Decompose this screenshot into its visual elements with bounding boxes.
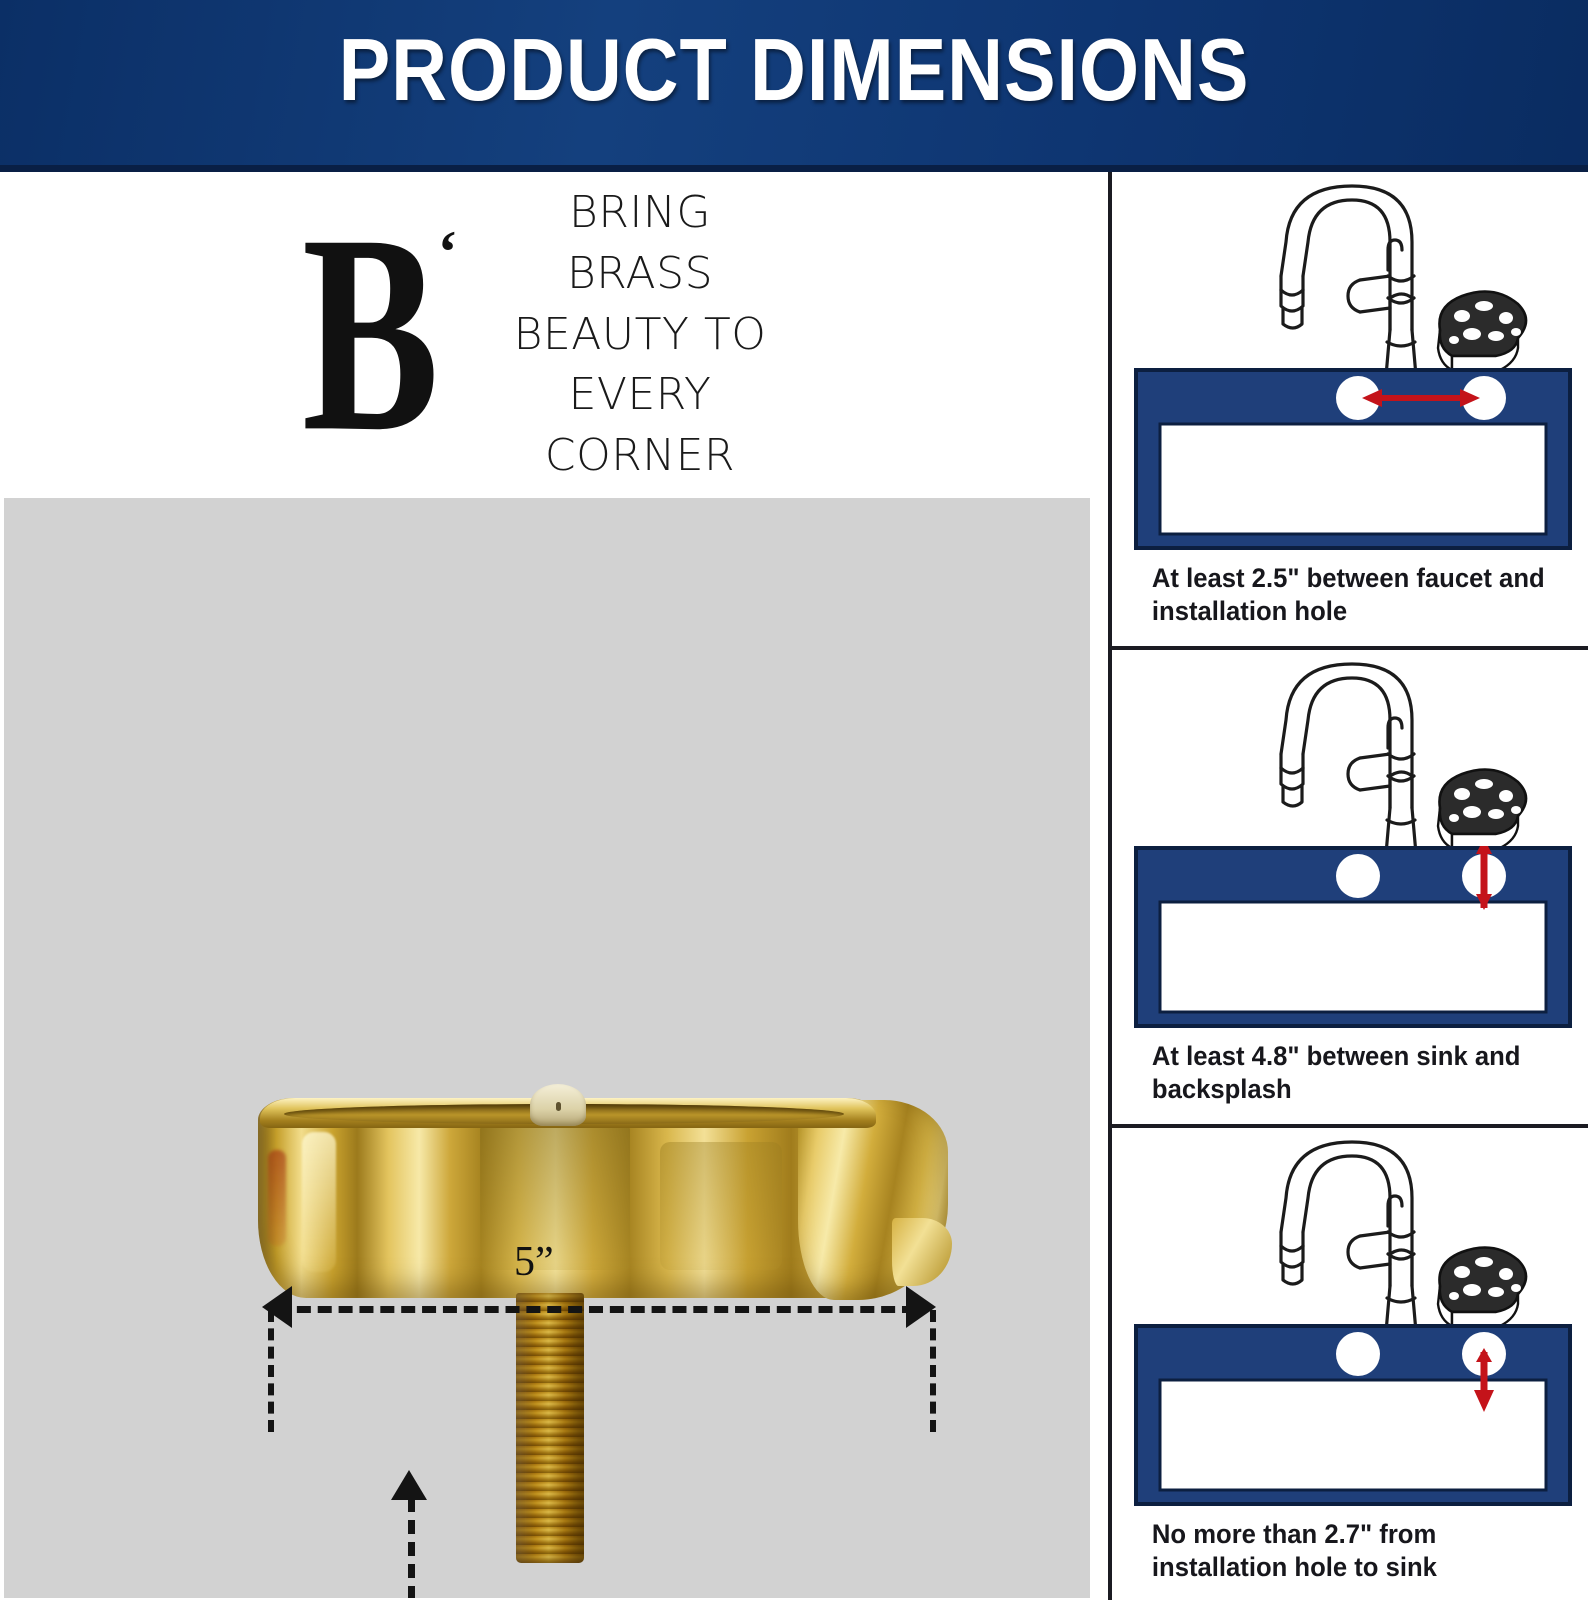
brand-lockup: B ‘ BRING BRASS BEAUTY TO EVERY CORNER xyxy=(302,183,767,487)
soap-dispenser-icon xyxy=(1418,1238,1538,1338)
installation-guide-column: At least 2.5" between faucet and install… xyxy=(1112,172,1588,1600)
soap-dispenser-icon xyxy=(1418,760,1538,860)
arrow-left-icon xyxy=(262,1286,292,1328)
bowl-center-nozzle xyxy=(530,1084,586,1126)
install-diagram xyxy=(1112,172,1588,552)
header-banner: PRODUCT DIMENSIONS xyxy=(0,0,1588,172)
install-panel-backsplash-spacing: At least 4.8" between sink and backsplas… xyxy=(1112,650,1588,1124)
brand-logo: B ‘ xyxy=(302,210,462,460)
brand-logo-apostrophe: ‘ xyxy=(438,222,458,282)
brand-tagline-line-4: EVERY xyxy=(514,365,767,426)
extension-line-right xyxy=(930,1310,936,1432)
install-diagram xyxy=(1112,1128,1588,1508)
page-title: PRODUCT DIMENSIONS xyxy=(95,24,1492,116)
threaded-shank xyxy=(516,1293,584,1563)
brand-tagline-line-2: BRASS xyxy=(514,244,767,305)
install-panel-faucet-spacing: At least 2.5" between faucet and install… xyxy=(1112,172,1588,646)
brand-block: B ‘ BRING BRASS BEAUTY TO EVERY CORNER xyxy=(0,172,1104,498)
extension-line-left xyxy=(268,1310,274,1432)
brand-tagline-line-1: BRING xyxy=(514,183,767,244)
bowl-reflection xyxy=(660,1142,782,1270)
bowl-spout-tip xyxy=(892,1218,952,1286)
install-caption: At least 2.5" between faucet and install… xyxy=(1112,552,1564,646)
install-panel-hole-to-sink: No more than 2.7" from installation hole… xyxy=(1112,1128,1588,1600)
dimension-line-width xyxy=(276,1306,916,1313)
install-hole-left xyxy=(1336,1332,1380,1376)
dimension-label-width: 5” xyxy=(514,1238,554,1286)
install-hole-left xyxy=(1336,854,1380,898)
install-caption: At least 4.8" between sink and backsplas… xyxy=(1112,1030,1564,1124)
product-photo: 5” 1 1/8” 2 3/8” xyxy=(4,498,1090,1598)
brand-tagline-line-3: BEAUTY TO xyxy=(514,305,767,366)
brand-logo-letter: B xyxy=(302,206,439,461)
bowl-color-reflection xyxy=(268,1150,286,1246)
brass-bowl-body xyxy=(258,1098,948,1303)
dimension-line-bowl-height xyxy=(408,1498,415,1598)
soap-dispenser-icon xyxy=(1418,282,1538,382)
install-diagram xyxy=(1112,650,1588,1030)
product-dimensions-infographic: PRODUCT DIMENSIONS B ‘ BRING BRASS BEAUT… xyxy=(0,0,1588,1600)
install-caption: No more than 2.7" from installation hole… xyxy=(1112,1508,1564,1600)
arrow-up-icon xyxy=(391,1470,427,1500)
sink-icon xyxy=(1134,846,1572,1028)
sink-icon xyxy=(1134,1324,1572,1506)
sink-icon xyxy=(1134,368,1572,550)
bowl-highlight xyxy=(302,1132,336,1272)
brand-tagline: BRING BRASS BEAUTY TO EVERY CORNER xyxy=(514,183,767,487)
brand-tagline-line-5: CORNER xyxy=(514,426,767,487)
bowl-reflection xyxy=(480,1124,630,1270)
left-column: B ‘ BRING BRASS BEAUTY TO EVERY CORNER xyxy=(0,172,1104,1600)
